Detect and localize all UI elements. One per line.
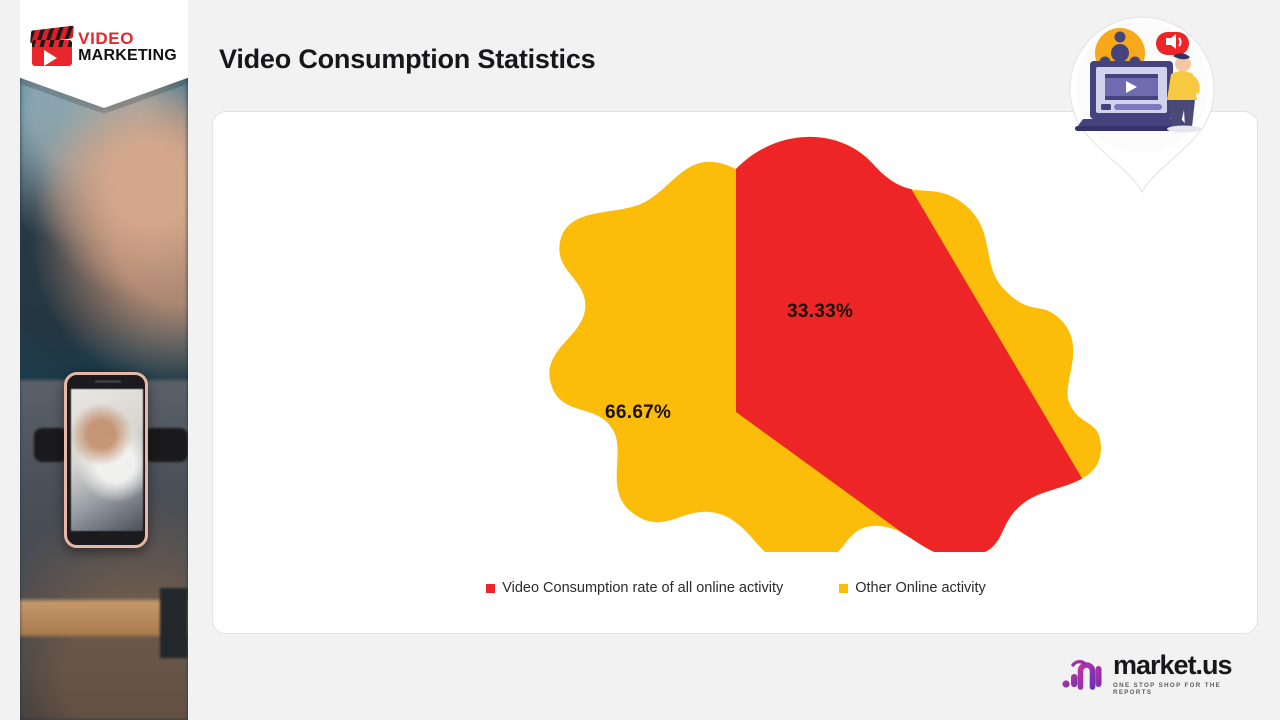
desk-equipment	[160, 588, 188, 658]
legend-swatch-icon	[839, 584, 848, 593]
logo-line-video: VIDEO	[78, 30, 177, 48]
phone-screen	[71, 389, 143, 531]
tripod-clamp-left	[34, 428, 68, 462]
market-us-brand: market.us ONE STOP SHOP FOR THE REPORTS	[1062, 650, 1262, 698]
chart-legend: Video Consumption rate of all online act…	[213, 580, 1259, 596]
page-title: Video Consumption Statistics	[219, 44, 595, 75]
brand-tagline: ONE STOP SHOP FOR THE REPORTS	[1113, 682, 1262, 696]
clapperboard-play-icon	[31, 28, 73, 66]
speaker-icon	[1156, 32, 1189, 55]
brand-name: market.us	[1113, 652, 1262, 679]
logo-line-marketing: MARKETING	[78, 48, 177, 65]
pie-label-other-online-activity: 66.67%	[605, 402, 671, 424]
smartphone	[64, 372, 148, 548]
legend-label: Video Consumption rate of all online act…	[502, 580, 783, 596]
pie-label-video-consumption: 33.33%	[787, 301, 853, 323]
tripod-clamp-right	[144, 428, 188, 462]
legend-item-other-online-activity[interactable]: Other Online activity	[839, 580, 986, 596]
market-us-bars-icon	[1062, 657, 1104, 691]
legend-swatch-icon	[486, 584, 495, 593]
legend-item-video-consumption[interactable]: Video Consumption rate of all online act…	[486, 580, 783, 596]
phone-speaker-icon	[95, 380, 121, 383]
video-marketing-illustration	[1063, 8, 1221, 193]
legend-label: Other Online activity	[855, 580, 986, 596]
